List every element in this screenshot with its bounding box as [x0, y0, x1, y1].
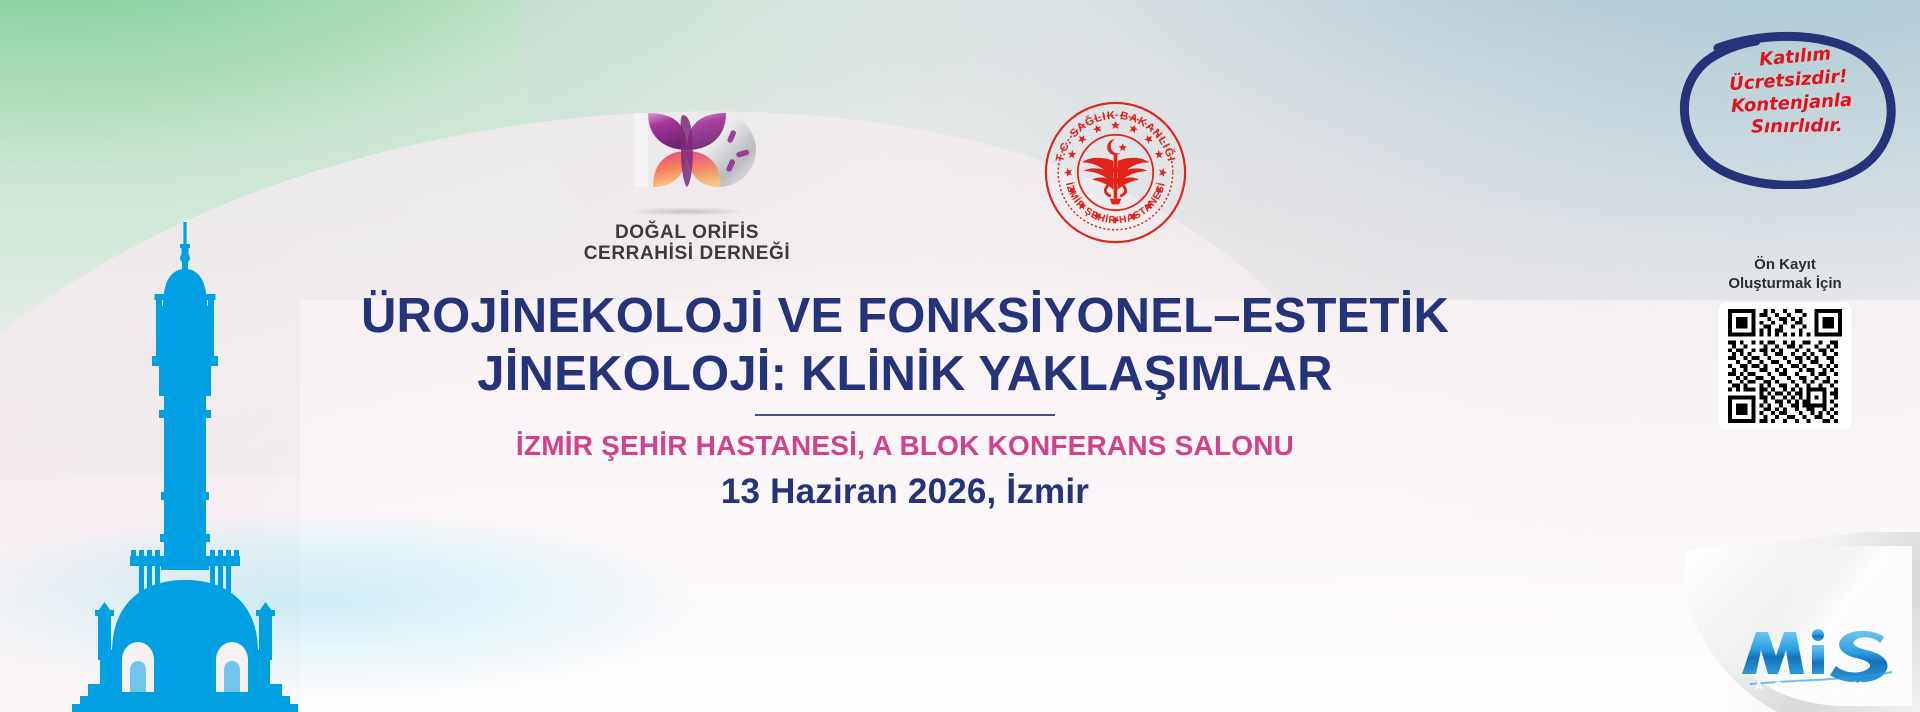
butterfly-sphere-mark	[607, 95, 767, 205]
qr-code[interactable]	[1718, 302, 1852, 430]
organizer-name-line-2: CERRAHİSİ DERNEĞİ	[577, 243, 797, 264]
title-divider	[755, 414, 1055, 416]
caduceus-crescent-emblem	[1082, 139, 1149, 204]
mis-academy-logo: A C A D E M Y	[1734, 622, 1906, 698]
free-admission-badge: Katılım Ücretsizdir! Kontenjanla Sınırlı…	[1660, 24, 1915, 189]
organizer-logo: DOĞAL ORİFİS CERRAHİSİ DERNEĞİ	[577, 95, 797, 264]
ministry-health-seal: T.C. SAĞLIK BAKANLIĞI İZMİR ŞEHİR HASTAN…	[1043, 100, 1188, 245]
event-title-line-1: ÜROJİNEKOLOJİ VE FONKSİYONEL–ESTETİK	[240, 288, 1570, 344]
badge-line-4: Sınırlıdır.	[1702, 113, 1892, 139]
organizer-name-line-1: DOĞAL ORİFİS	[577, 222, 797, 243]
logo-drop-shadow	[627, 207, 747, 216]
event-banner: DOĞAL ORİFİS CERRAHİSİ DERNEĞİ	[0, 0, 1920, 712]
event-copy-block: ÜROJİNEKOLOJİ VE FONKSİYONEL–ESTETİK JİN…	[240, 288, 1570, 512]
mis-academy-subtitle: A C A D E M Y	[1754, 679, 1885, 693]
qr-caption-line-1: Ön Kayıt	[1690, 255, 1880, 274]
event-venue: İZMİR ŞEHİR HASTANESİ, A BLOK KONFERANS …	[240, 430, 1570, 462]
free-admission-text: Katılım Ücretsizdir! Kontenjanla Sınırlı…	[1692, 41, 1887, 143]
qr-caption: Ön Kayıt Oluşturmak İçin	[1690, 255, 1880, 293]
registration-qr-block[interactable]: Ön Kayıt Oluşturmak İçin	[1690, 255, 1880, 430]
qr-caption-line-2: Oluşturmak İçin	[1690, 274, 1880, 293]
event-date: 13 Haziran 2026, İzmir	[240, 472, 1570, 512]
event-title-line-2: JİNEKOLOJİ: KLİNİK YAKLAŞIMLAR	[240, 346, 1570, 402]
